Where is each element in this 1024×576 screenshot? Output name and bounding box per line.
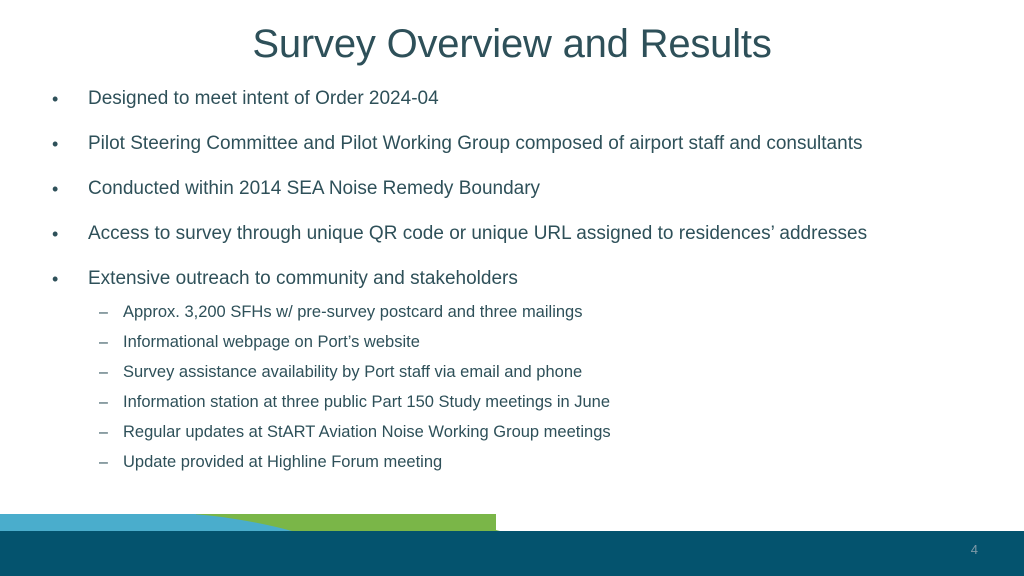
sub-bullet-text: Approx. 3,200 SFHs w/ pre-survey postcar… bbox=[123, 301, 992, 324]
page-title: Survey Overview and Results bbox=[0, 18, 1024, 70]
bullet-dot-icon: • bbox=[52, 86, 70, 112]
dash-icon: – bbox=[99, 301, 115, 324]
sub-bullet-text: Regular updates at StART Aviation Noise … bbox=[123, 421, 992, 444]
bullet-dot-icon: • bbox=[52, 131, 70, 157]
bullet-text: Access to survey through unique QR code … bbox=[88, 221, 992, 247]
bullet-dot-icon: • bbox=[52, 176, 70, 202]
dash-icon: – bbox=[99, 391, 115, 414]
sub-list-item: – Regular updates at StART Aviation Nois… bbox=[99, 421, 992, 444]
dash-icon: – bbox=[99, 451, 115, 474]
footer-decoration bbox=[0, 500, 1024, 576]
sub-list-item: – Survey assistance availability by Port… bbox=[99, 361, 992, 384]
list-item: • Conducted within 2014 SEA Noise Remedy… bbox=[52, 176, 992, 202]
sub-bullet-text: Information station at three public Part… bbox=[123, 391, 992, 414]
bullet-text: Designed to meet intent of Order 2024-04 bbox=[88, 86, 992, 112]
sub-bullet-text: Update provided at Highline Forum meetin… bbox=[123, 451, 992, 474]
dash-icon: – bbox=[99, 331, 115, 354]
bullet-text: Conducted within 2014 SEA Noise Remedy B… bbox=[88, 176, 992, 202]
list-item: • Pilot Steering Committee and Pilot Wor… bbox=[52, 131, 992, 157]
dash-icon: – bbox=[99, 361, 115, 384]
bullet-dot-icon: • bbox=[52, 266, 70, 292]
dark-teal-bar bbox=[0, 531, 1024, 576]
dash-icon: – bbox=[99, 421, 115, 444]
list-item: • Extensive outreach to community and st… bbox=[52, 266, 992, 474]
slide-canvas: Survey Overview and Results • Designed t… bbox=[0, 0, 1024, 576]
bullet-dot-icon: • bbox=[52, 221, 70, 247]
bullet-text: Pilot Steering Committee and Pilot Worki… bbox=[88, 131, 992, 157]
sub-list-item: – Approx. 3,200 SFHs w/ pre-survey postc… bbox=[99, 301, 992, 324]
footer-swoosh-graphic bbox=[0, 500, 1024, 576]
bullet-list: • Designed to meet intent of Order 2024-… bbox=[52, 86, 992, 474]
page-number: 4 bbox=[971, 542, 978, 558]
sub-bullet-text: Informational webpage on Port’s website bbox=[123, 331, 992, 354]
list-item: • Access to survey through unique QR cod… bbox=[52, 221, 992, 247]
sub-list-item: – Update provided at Highline Forum meet… bbox=[99, 451, 992, 474]
bullet-text: Extensive outreach to community and stak… bbox=[88, 266, 992, 292]
list-item: • Designed to meet intent of Order 2024-… bbox=[52, 86, 992, 112]
sub-bullet-list: – Approx. 3,200 SFHs w/ pre-survey postc… bbox=[99, 301, 992, 474]
sub-list-item: – Information station at three public Pa… bbox=[99, 391, 992, 414]
sub-bullet-text: Survey assistance availability by Port s… bbox=[123, 361, 992, 384]
sub-list-item: – Informational webpage on Port’s websit… bbox=[99, 331, 992, 354]
